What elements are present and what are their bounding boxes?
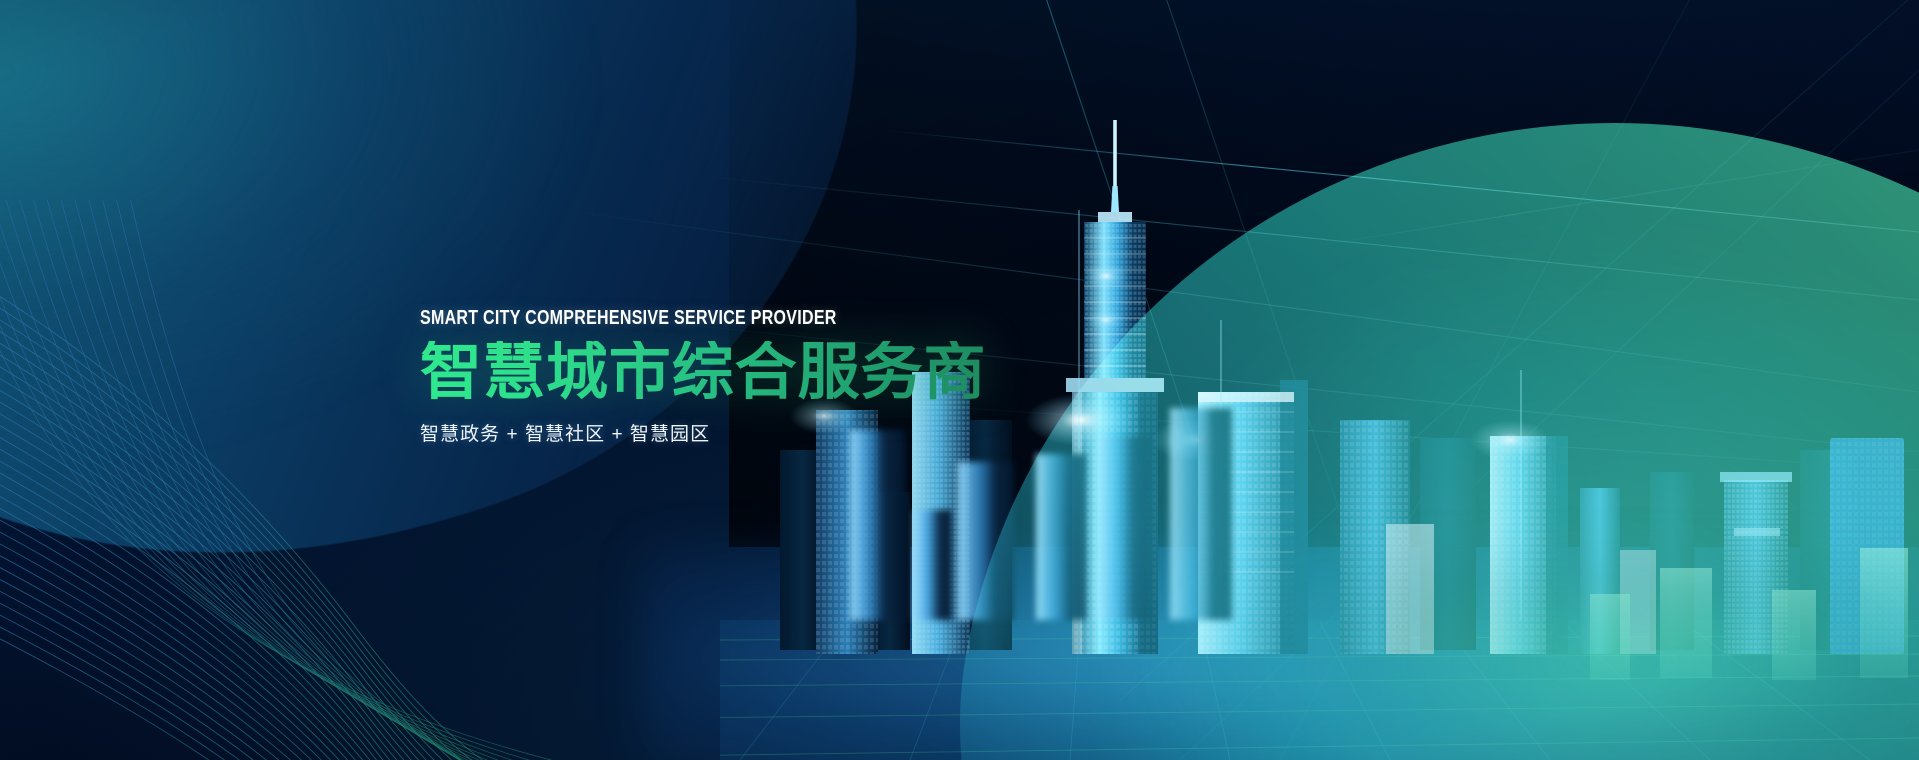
ground-glow-green — [1159, 560, 1919, 760]
hero-text-block: SMART CITY COMPREHENSIVE SERVICE PROVIDE… — [420, 308, 1120, 446]
hero-eyebrow: SMART CITY COMPREHENSIVE SERVICE PROVIDE… — [420, 308, 980, 328]
smart-city-hero-banner: SMART CITY COMPREHENSIVE SERVICE PROVIDE… — [0, 0, 1919, 760]
hero-tagline: 智慧政务 + 智慧社区 + 智慧园区 — [420, 419, 1120, 446]
hero-headline: 智慧城市综合服务商 — [420, 341, 1120, 405]
